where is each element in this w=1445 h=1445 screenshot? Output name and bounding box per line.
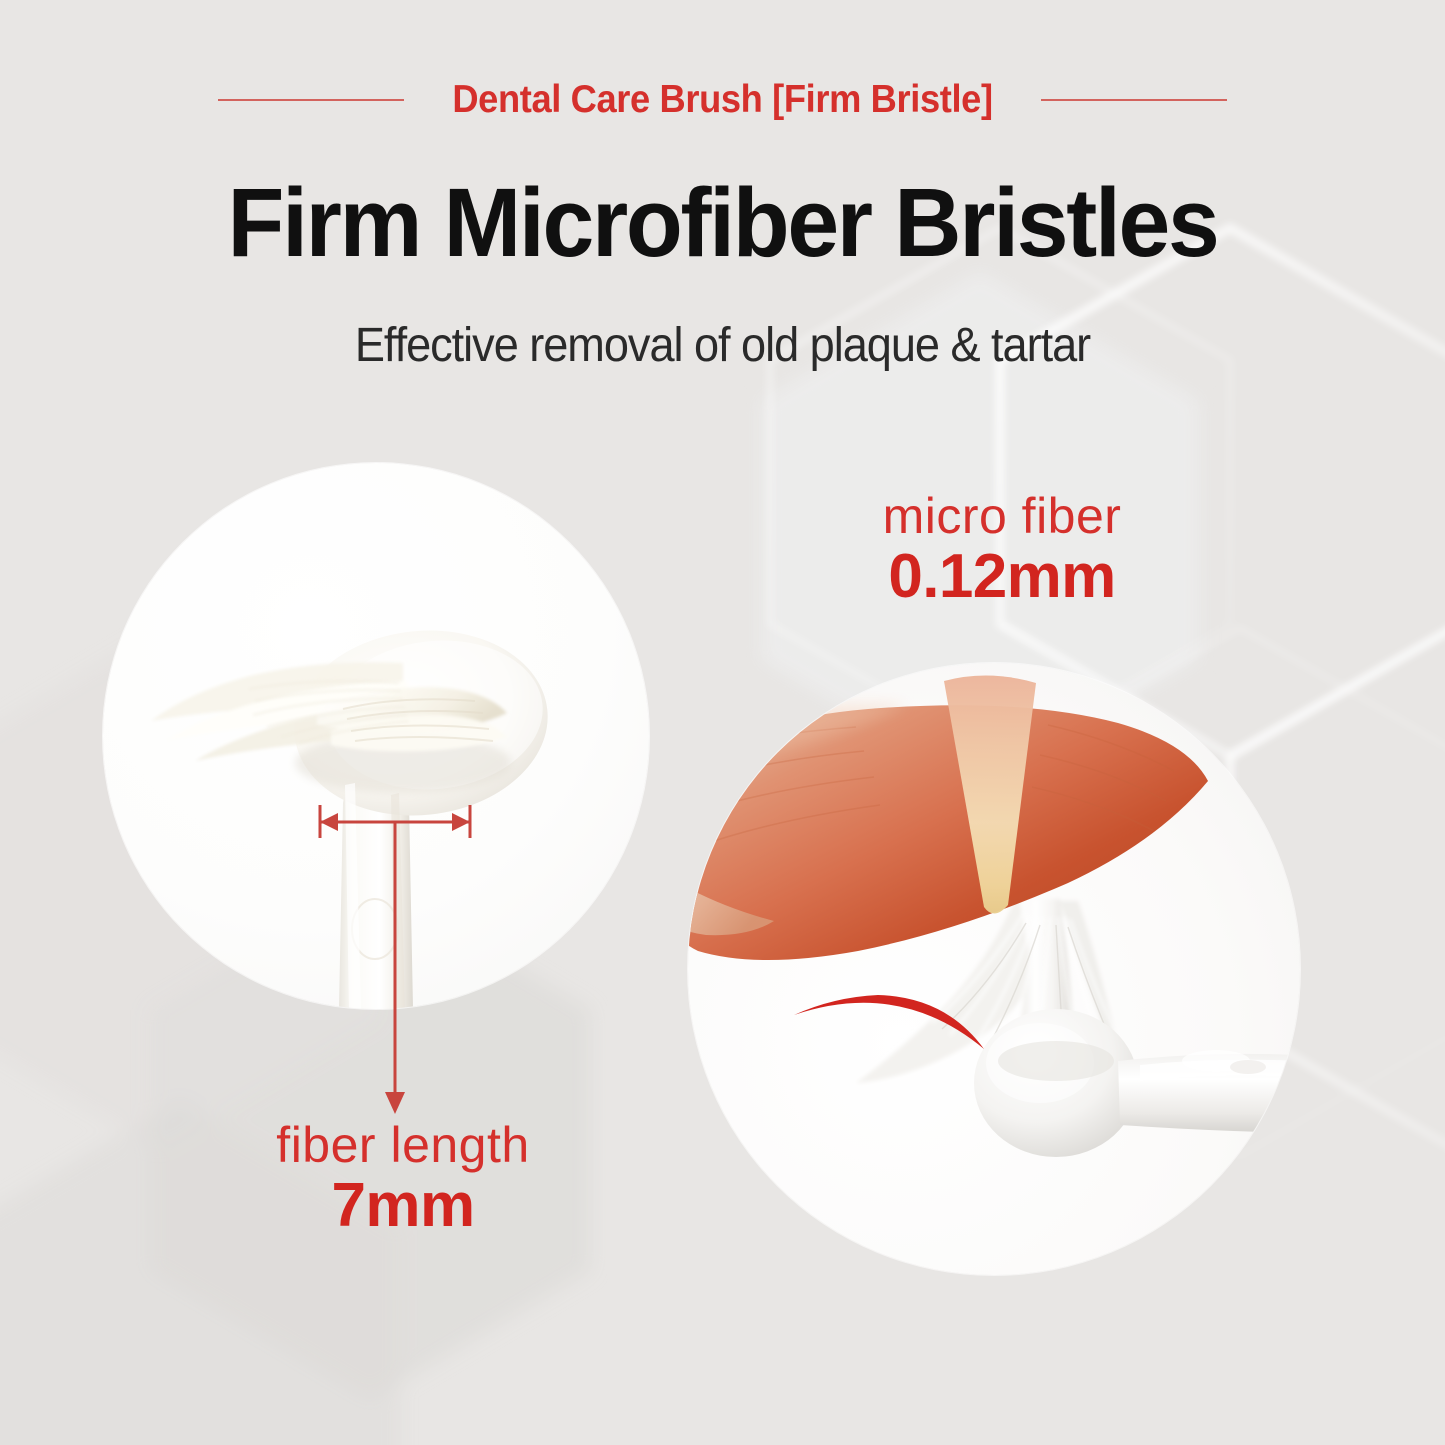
fiber-length-caption: fiber length (228, 1119, 578, 1172)
eyebrow-rule-left (218, 99, 404, 101)
eyebrow-label: Dental Care Brush [Firm Bristle] (452, 78, 992, 122)
microfiber-annotation: micro fiber 0.12mm (842, 490, 1162, 611)
fiber-length-annotation: fiber length 7mm (228, 1119, 578, 1240)
microfiber-caption: micro fiber (842, 490, 1162, 543)
eyebrow-row: Dental Care Brush [Firm Bristle] (0, 72, 1445, 128)
fiber-length-value: 7mm (228, 1172, 578, 1240)
infographic-page: Dental Care Brush [Firm Bristle] Firm Mi… (0, 0, 1445, 1445)
page-subtitle: Effective removal of old plaque & tartar (43, 318, 1401, 373)
brush-head-photo (103, 463, 649, 1009)
microfiber-value: 0.12mm (842, 543, 1162, 611)
eyebrow-rule-right (1041, 99, 1227, 101)
fingertip-press-photo (688, 663, 1300, 1275)
page-title: Firm Microfiber Bristles (29, 174, 1416, 273)
